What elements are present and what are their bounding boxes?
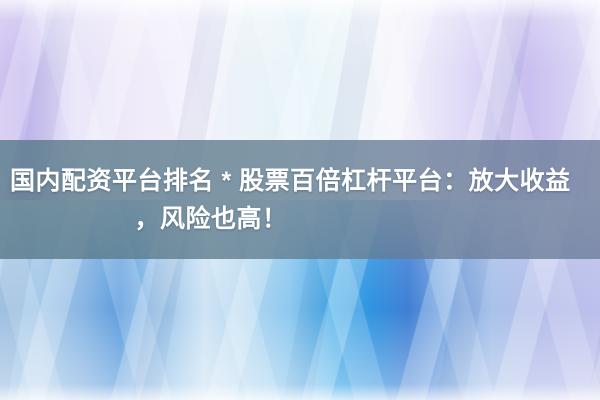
caption-line-2: ，风险也高！ xyxy=(10,200,590,238)
caption-line-1: 国内配资平台排名 * 股票百倍杠杆平台：放大收益 xyxy=(10,162,590,200)
caption-band: 国内配资平台排名 * 股票百倍杠杆平台：放大收益 ，风险也高！ xyxy=(0,140,600,259)
promo-banner: 国内配资平台排名 * 股票百倍杠杆平台：放大收益 ，风险也高！ xyxy=(0,0,600,400)
